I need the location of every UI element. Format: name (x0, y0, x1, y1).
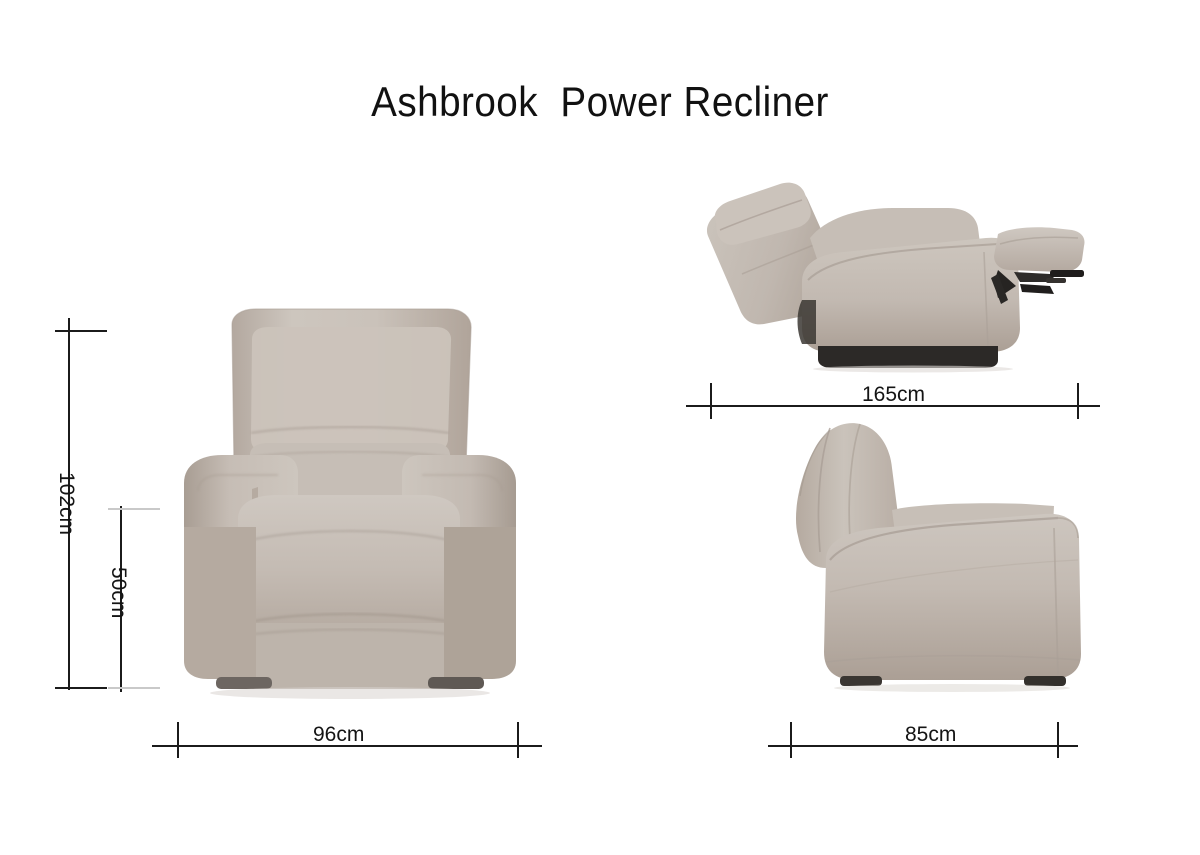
front-view-chair (160, 305, 540, 705)
dimension-width-label: 96cm (313, 723, 364, 747)
reclined-side-view-chair (698, 178, 1090, 373)
page-title: Ashbrook Power Recliner (48, 78, 1152, 126)
upright-side-view-chair (786, 410, 1086, 702)
dimension-depth-label: 85cm (905, 723, 956, 747)
dimension-height-top-tick (55, 330, 107, 332)
dimension-seat-height-bottom-tick (108, 687, 160, 689)
dimension-reclined-depth-left-tick (710, 383, 712, 419)
dimension-height-bottom-tick (55, 687, 107, 689)
dimension-height-label: 102cm (54, 472, 78, 535)
dimension-seat-height-label: 50cm (106, 567, 130, 618)
dimension-depth-right-tick (1057, 722, 1059, 758)
dimension-width-left-tick (177, 722, 179, 758)
dimension-reclined-depth-right-tick (1077, 383, 1079, 419)
dimension-width-right-tick (517, 722, 519, 758)
dimension-depth-left-tick (790, 722, 792, 758)
dimension-seat-height-top-tick (108, 508, 160, 510)
diagram-canvas: Ashbrook Power Recliner (0, 0, 1200, 855)
dimension-reclined-depth-label: 165cm (862, 383, 925, 407)
